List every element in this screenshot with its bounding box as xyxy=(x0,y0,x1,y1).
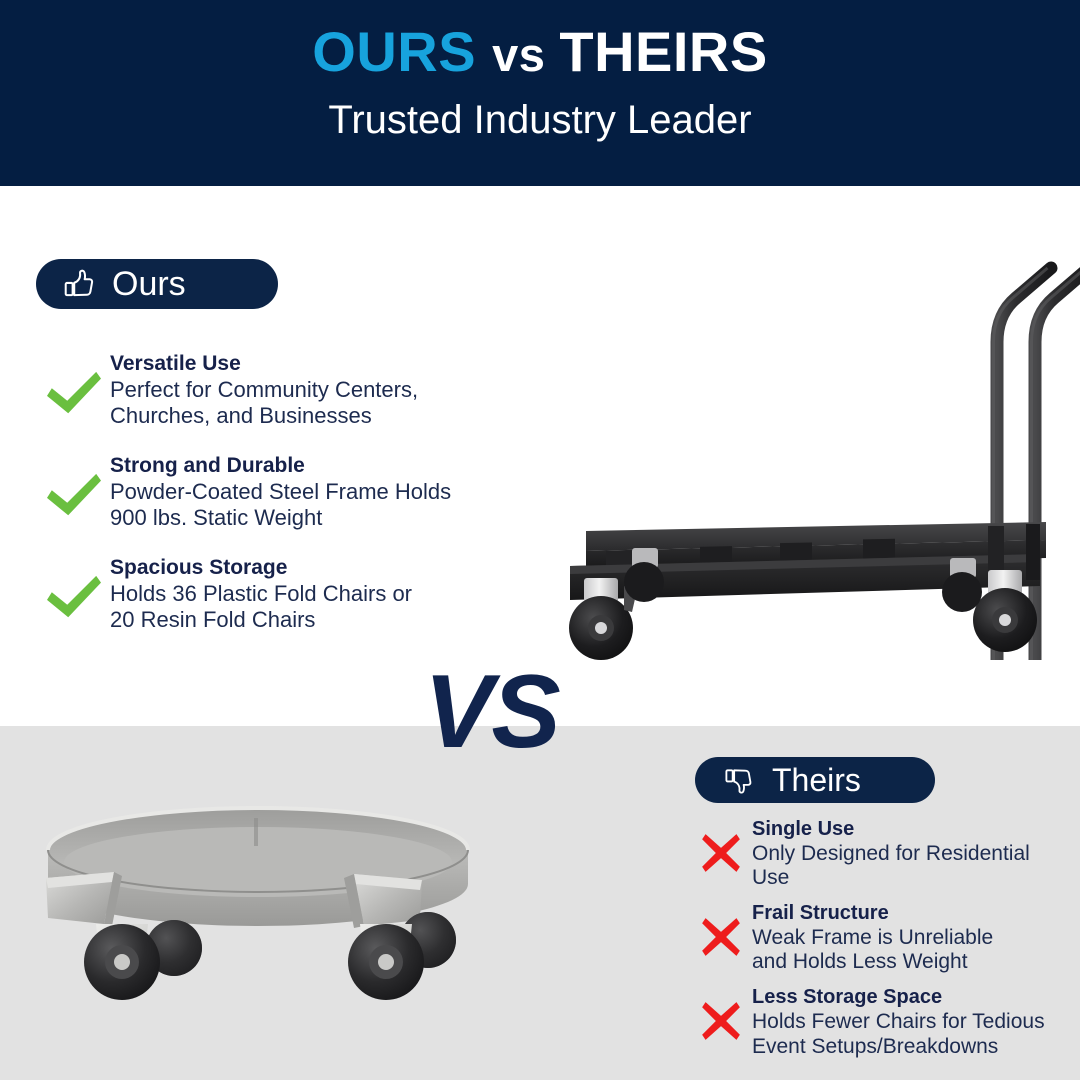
ours-product-image xyxy=(548,186,1080,660)
theirs-feature-text: Frail Structure Weak Frame is Unreliable… xyxy=(752,902,1080,975)
theirs-feature-text: Single Use Only Designed for Residential… xyxy=(752,818,1080,891)
thumbs-down-icon xyxy=(723,765,754,796)
x-icon xyxy=(697,997,745,1045)
x-mark xyxy=(690,820,752,886)
title-vs-word: vs xyxy=(492,28,545,81)
theirs-feature-title: Frail Structure xyxy=(752,902,1080,926)
title-ours-word: OURS xyxy=(312,20,476,83)
comparison-infographic: OURSvsTHEIRS Trusted Industry Leader xyxy=(0,0,1080,1080)
ours-feature-desc: Holds 36 Plastic Fold Chairs or 20 Resin… xyxy=(110,581,508,633)
ours-feature-title: Spacious Storage xyxy=(110,556,508,581)
x-mark xyxy=(690,988,752,1054)
theirs-feature-text: Less Storage Space Holds Fewer Chairs fo… xyxy=(752,986,1080,1059)
x-mark xyxy=(690,904,752,970)
check-mark xyxy=(38,356,110,432)
ours-badge: Ours xyxy=(36,259,278,309)
theirs-product-image xyxy=(8,800,508,1032)
theirs-feature-desc: Only Designed for Residential Use xyxy=(752,842,1080,892)
ours-badge-label: Ours xyxy=(112,267,186,301)
ours-feature-desc: Perfect for Community Centers, Churches,… xyxy=(110,377,508,429)
galvanized-drum-dolly-illustration xyxy=(8,800,508,1032)
ours-feature-list: Versatile Use Perfect for Community Cent… xyxy=(38,352,508,658)
x-icon xyxy=(697,829,745,877)
theirs-feature-item: Less Storage Space Holds Fewer Chairs fo… xyxy=(690,986,1080,1059)
check-icon xyxy=(43,571,105,625)
title-theirs-word: THEIRS xyxy=(559,20,767,83)
theirs-badge: Theirs xyxy=(695,757,935,803)
x-icon xyxy=(697,913,745,961)
theirs-feature-item: Frail Structure Weak Frame is Unreliable… xyxy=(690,902,1080,975)
theirs-feature-title: Less Storage Space xyxy=(752,986,1080,1010)
ours-feature-item: Versatile Use Perfect for Community Cent… xyxy=(38,352,508,432)
theirs-feature-desc: Holds Fewer Chairs for Tedious Event Set… xyxy=(752,1010,1080,1060)
page-title: OURSvsTHEIRS xyxy=(0,24,1080,80)
check-icon xyxy=(43,367,105,421)
black-chair-dolly-cart-illustration xyxy=(548,186,1080,660)
caster-front-right xyxy=(348,924,424,1000)
ours-feature-title: Versatile Use xyxy=(110,352,508,377)
check-mark xyxy=(38,458,110,534)
caster-front-left xyxy=(84,924,160,1000)
thumbs-up-icon xyxy=(62,267,96,301)
theirs-feature-item: Single Use Only Designed for Residential… xyxy=(690,818,1080,891)
vs-divider-label: VS xyxy=(424,660,559,764)
theirs-feature-desc: Weak Frame is Unreliable and Holds Less … xyxy=(752,926,1080,976)
check-mark xyxy=(38,560,110,636)
theirs-feature-title: Single Use xyxy=(752,818,1080,842)
theirs-badge-label: Theirs xyxy=(772,764,861,796)
ours-feature-item: Strong and Durable Powder-Coated Steel F… xyxy=(38,454,508,534)
ours-feature-text: Strong and Durable Powder-Coated Steel F… xyxy=(110,454,508,531)
caster-bracket-left xyxy=(46,872,122,926)
theirs-feature-list: Single Use Only Designed for Residential… xyxy=(690,818,1080,1070)
check-icon xyxy=(43,469,105,523)
ours-feature-desc: Powder-Coated Steel Frame Holds 900 lbs.… xyxy=(110,479,508,531)
ours-feature-item: Spacious Storage Holds 36 Plastic Fold C… xyxy=(38,556,508,636)
ours-feature-text: Spacious Storage Holds 36 Plastic Fold C… xyxy=(110,556,508,633)
ours-feature-title: Strong and Durable xyxy=(110,454,508,479)
page-subtitle: Trusted Industry Leader xyxy=(0,98,1080,142)
ours-feature-text: Versatile Use Perfect for Community Cent… xyxy=(110,352,508,429)
header-banner: OURSvsTHEIRS Trusted Industry Leader xyxy=(0,0,1080,186)
